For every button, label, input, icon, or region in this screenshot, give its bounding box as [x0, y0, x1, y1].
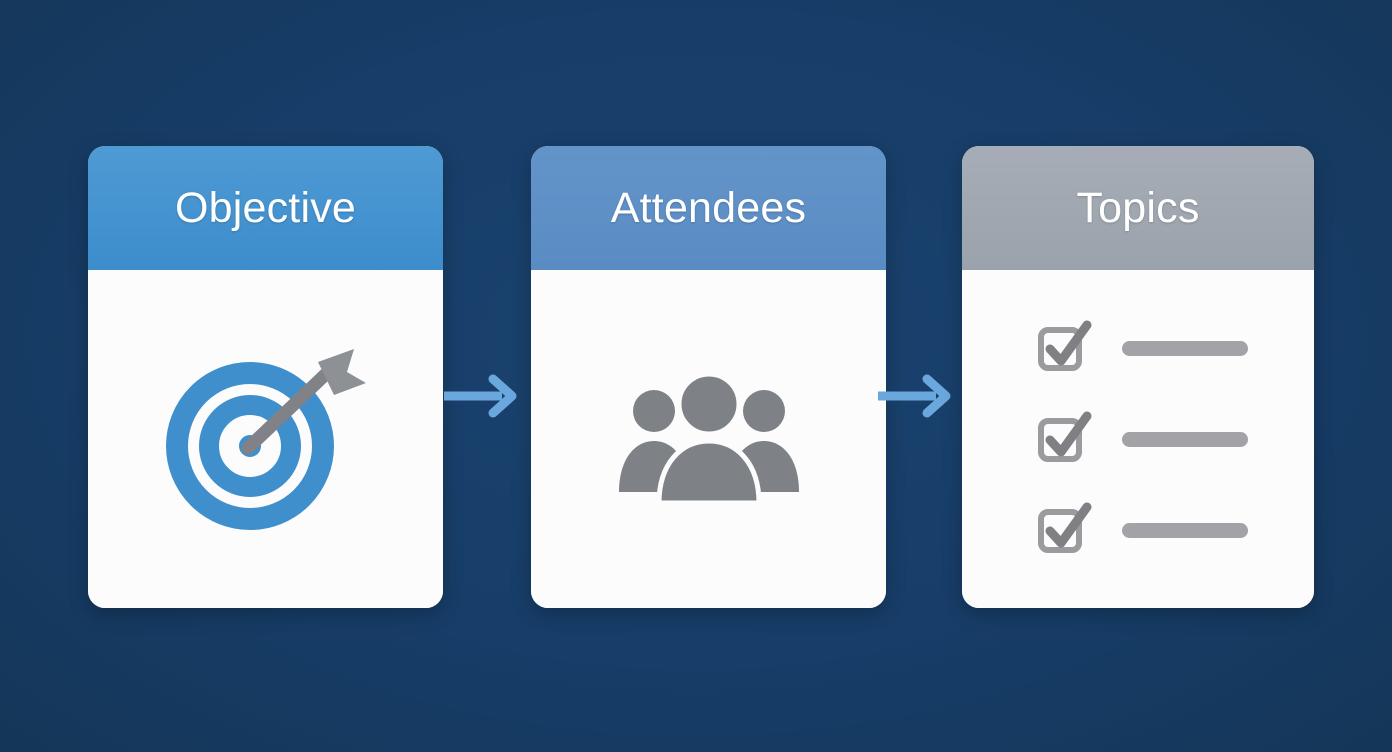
step-card-topics[interactable]: Topics — [962, 146, 1314, 608]
step-title-objective: Objective — [175, 187, 356, 230]
people-group-icon — [609, 367, 809, 512]
checklist — [1029, 320, 1248, 559]
step-card-attendees[interactable]: Attendees — [531, 146, 886, 608]
step-card-objective[interactable]: Objective — [88, 146, 443, 608]
step-body-topics — [962, 270, 1314, 608]
step-title-attendees: Attendees — [611, 187, 806, 230]
checkbox-checked-icon[interactable] — [1037, 320, 1095, 377]
step-header-attendees: Attendees — [531, 146, 886, 270]
step-title-topics: Topics — [1076, 187, 1199, 230]
step-body-objective — [88, 270, 443, 608]
checklist-item[interactable] — [1037, 411, 1248, 468]
arrow-right-icon-2 — [878, 374, 954, 418]
checklist-item-bar — [1122, 432, 1248, 447]
checkbox-checked-icon[interactable] — [1037, 502, 1095, 559]
arrow-right-icon-1 — [444, 374, 520, 418]
process-flow: Objective — [0, 146, 1392, 608]
diagram-canvas: Objective — [0, 0, 1392, 752]
target-bullseye-icon — [158, 339, 373, 539]
step-body-attendees — [531, 270, 886, 608]
step-header-topics: Topics — [962, 146, 1314, 270]
step-header-objective: Objective — [88, 146, 443, 270]
checklist-item[interactable] — [1037, 502, 1248, 559]
checkbox-checked-icon[interactable] — [1037, 411, 1095, 468]
checklist-item[interactable] — [1037, 320, 1248, 377]
checklist-item-bar — [1122, 523, 1248, 538]
checklist-item-bar — [1122, 341, 1248, 356]
